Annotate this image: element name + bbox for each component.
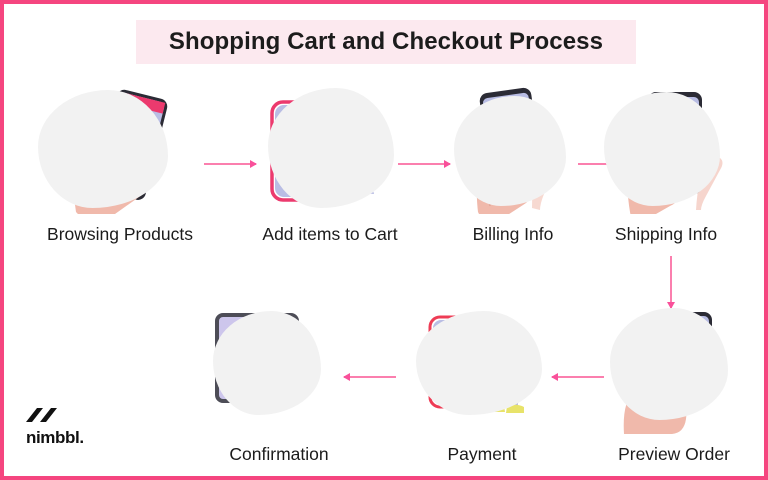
step-label-payment: Payment <box>412 444 552 465</box>
step-label-add-items-to-cart: Add items to Cart <box>254 224 406 245</box>
step-confirmation[interactable]: Confirmation <box>209 309 349 439</box>
step-illustration-add-items-to-cart <box>254 84 406 214</box>
step-illustration-billing-info <box>448 84 578 214</box>
step-browsing-products[interactable]: Browsing Products <box>32 84 208 214</box>
blob-shape <box>454 96 566 206</box>
step-payment[interactable]: Payment <box>412 299 552 429</box>
blob-shape <box>268 88 394 208</box>
step-preview-order[interactable]: Preview Order <box>604 304 744 434</box>
step-illustration-shipping-info <box>596 84 736 214</box>
blob-shape <box>604 92 720 206</box>
arrow-payment-to-confirmation <box>344 376 396 378</box>
step-label-shipping-info: Shipping Info <box>596 224 736 245</box>
brand-name: nimbbl. <box>26 428 100 448</box>
step-billing-info[interactable]: Billing Info <box>448 84 578 214</box>
arrow-cart-to-billing <box>398 163 450 165</box>
step-shipping-info[interactable]: Shipping Info <box>596 84 736 214</box>
arrow-browsing-to-cart <box>204 163 256 165</box>
step-illustration-browsing-products <box>32 84 208 214</box>
blob-shape <box>416 311 542 415</box>
blob-shape <box>610 308 728 420</box>
arrow-preview-to-payment <box>552 376 604 378</box>
nimbbl-mark-icon <box>26 406 66 423</box>
step-illustration-preview-order <box>604 304 744 434</box>
blob-shape <box>213 311 321 415</box>
step-label-confirmation: Confirmation <box>209 444 349 465</box>
page-title: Shopping Cart and Checkout Process <box>169 28 603 56</box>
infographic-page: Shopping Cart and Checkout Process <box>0 0 768 480</box>
blob-shape <box>38 90 168 208</box>
step-illustration-confirmation <box>209 309 349 439</box>
arrow-shipping-to-preview <box>670 256 672 308</box>
title-band: Shopping Cart and Checkout Process <box>136 20 636 64</box>
step-illustration-payment <box>412 299 552 429</box>
step-add-items-to-cart[interactable]: Add items to Cart <box>254 84 406 214</box>
brand-logo: nimbbl. <box>26 406 100 448</box>
step-label-browsing-products: Browsing Products <box>32 224 208 245</box>
step-label-billing-info: Billing Info <box>448 224 578 245</box>
step-label-preview-order: Preview Order <box>604 444 744 465</box>
